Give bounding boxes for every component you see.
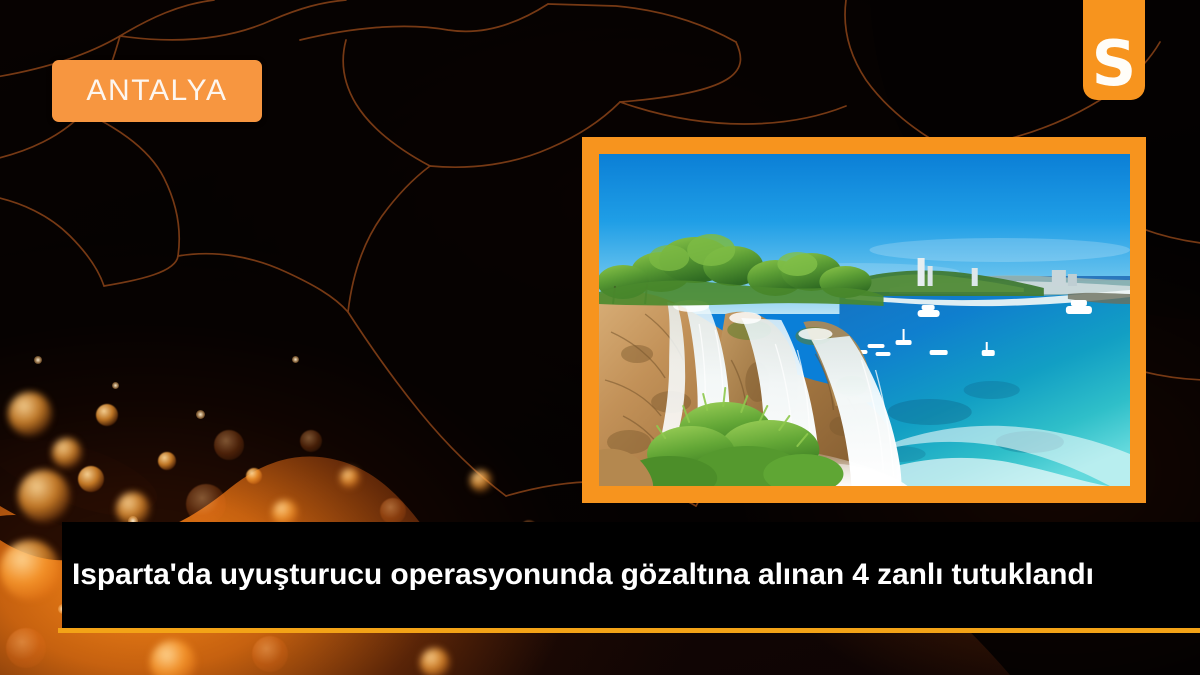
city-badge-label: ANTALYA bbox=[86, 76, 227, 106]
photo-frame bbox=[582, 137, 1146, 503]
brand-s-logo[interactable]: S bbox=[1083, 0, 1145, 100]
headline-text: Isparta'da uyuşturucu operasyonunda göza… bbox=[62, 557, 1134, 593]
news-card: ANTALYA S bbox=[0, 0, 1200, 675]
headline-bar: Isparta'da uyuşturucu operasyonunda göza… bbox=[62, 522, 1200, 628]
city-badge[interactable]: ANTALYA bbox=[52, 60, 262, 122]
news-photo bbox=[599, 154, 1130, 486]
brand-logo-letter: S bbox=[1092, 39, 1137, 90]
headline-accent-rule bbox=[58, 628, 1200, 633]
